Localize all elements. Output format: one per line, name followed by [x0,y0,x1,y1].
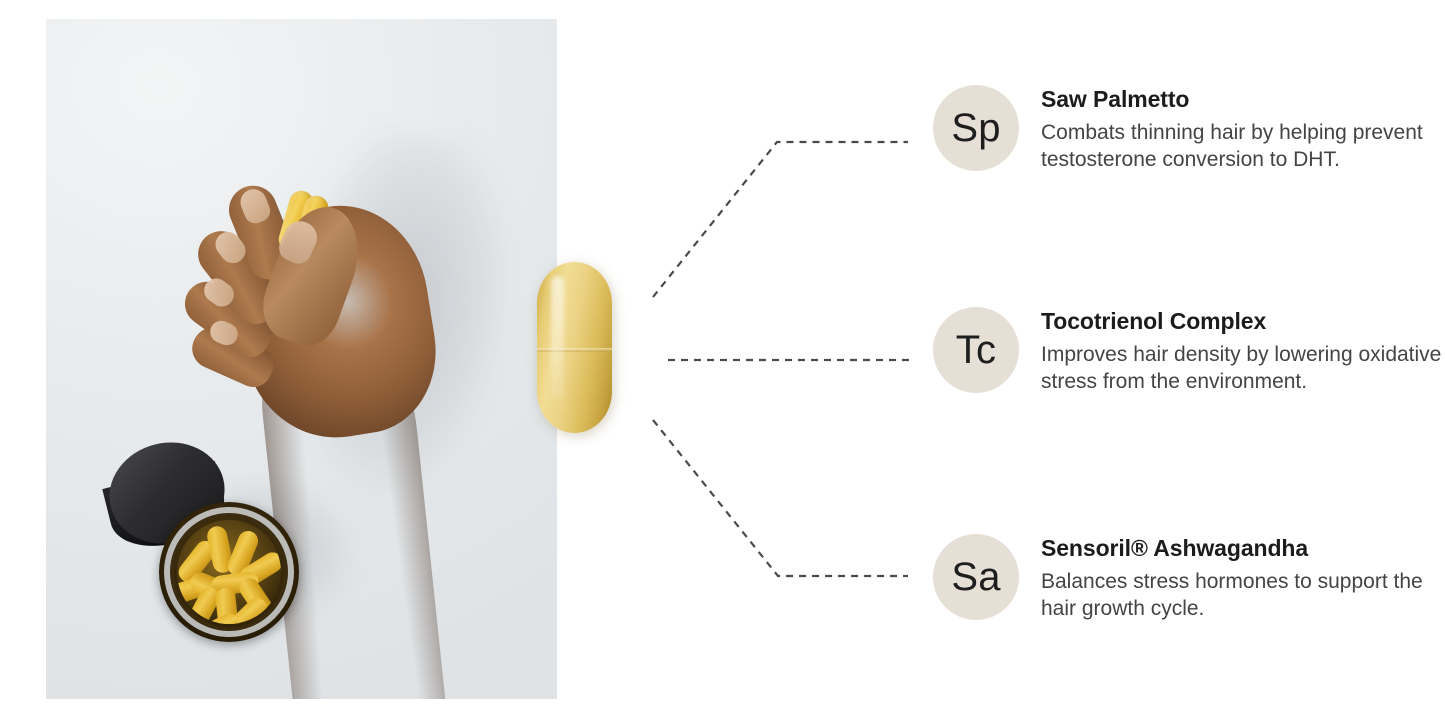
hero-capsule [537,262,612,433]
ingredient-description: Improves hair density by lowering oxidat… [1041,342,1445,395]
ingredient-title: Saw Palmetto [1041,86,1445,113]
ingredient-item-sensoril-ashwagandha: Sa Sensoril® Ashwagandha Balances stress… [933,534,1445,622]
connector-line-1 [653,142,908,297]
ingredient-copy: Tocotrienol Complex Improves hair densit… [1041,307,1445,395]
connector-line-3 [653,420,908,576]
badge-abbr: Sa [951,557,1000,597]
ingredient-callout-graphic: Sp Saw Palmetto Combats thinning hair by… [0,0,1445,719]
jar-rim [164,507,294,637]
badge-abbr: Sp [951,108,1000,148]
ingredient-item-tocotrienol-complex: Tc Tocotrienol Complex Improves hair den… [933,307,1445,395]
badge-abbr: Tc [956,330,996,370]
ingredient-title: Sensoril® Ashwagandha [1041,535,1445,562]
product-photo [46,19,557,699]
ingredient-badge-tc: Tc [933,307,1019,393]
ingredient-badge-sp: Sp [933,85,1019,171]
ingredient-item-saw-palmetto: Sp Saw Palmetto Combats thinning hair by… [933,85,1445,173]
ingredient-copy: Sensoril® Ashwagandha Balances stress ho… [1041,534,1445,622]
ingredient-copy: Saw Palmetto Combats thinning hair by he… [1041,85,1445,173]
ingredient-badge-sa: Sa [933,534,1019,620]
ingredient-list: Sp Saw Palmetto Combats thinning hair by… [933,0,1445,719]
ingredient-description: Combats thinning hair by helping prevent… [1041,120,1445,173]
ingredient-description: Balances stress hormones to support the … [1041,569,1445,622]
ingredient-title: Tocotrienol Complex [1041,308,1445,335]
hero-capsule-highlight [551,276,564,400]
